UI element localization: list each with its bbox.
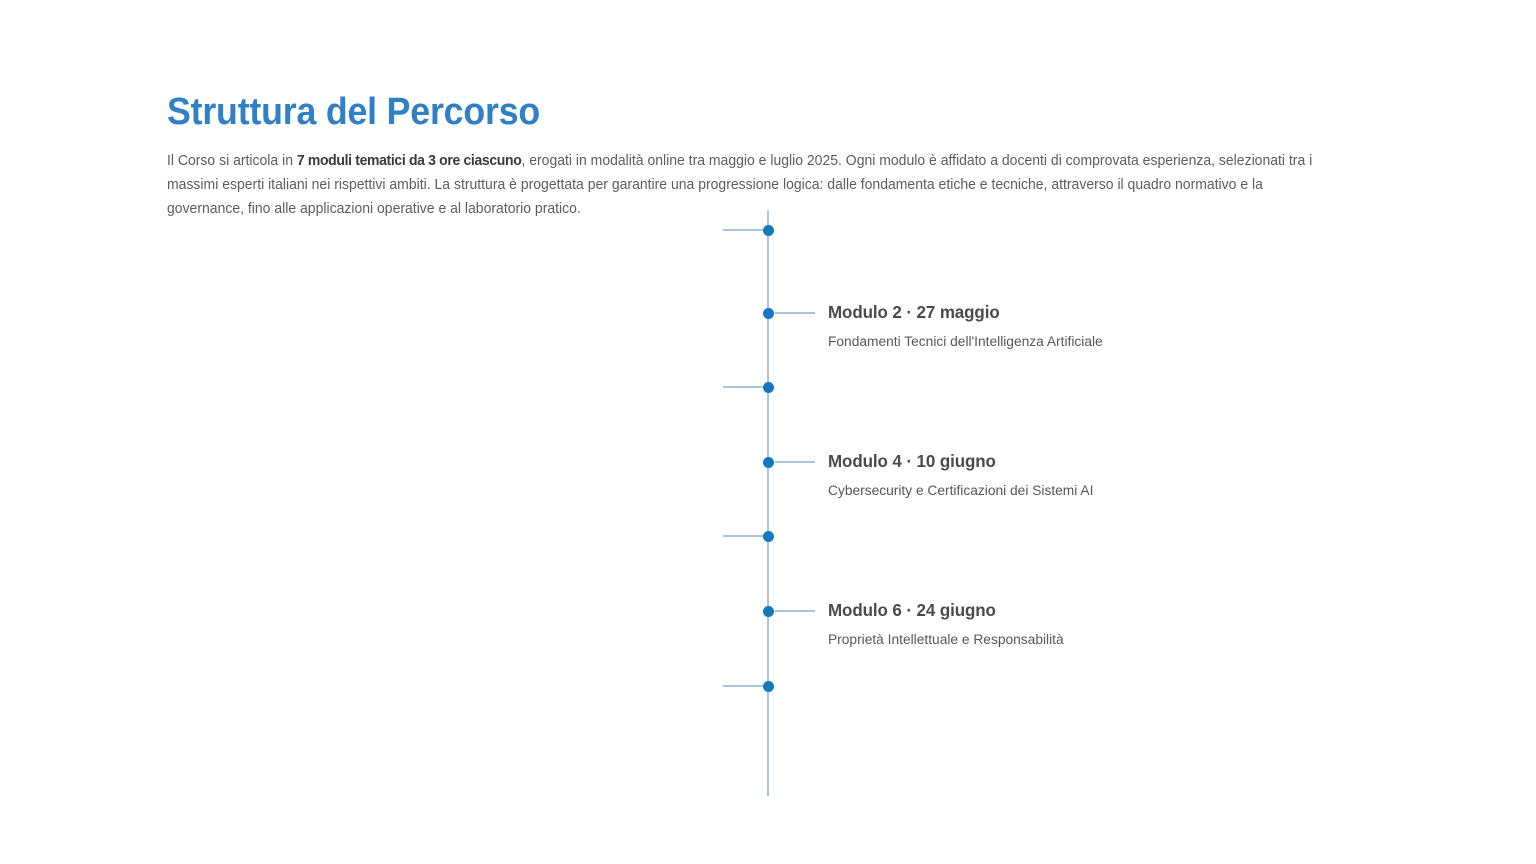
timeline-connector <box>723 229 763 231</box>
timeline-item-subtitle: Fondamenti Tecnici dell'Intelligenza Art… <box>828 333 1103 351</box>
timeline-item-text: Modulo 6 · 24 giugnoProprietà Intellettu… <box>828 600 1071 649</box>
timeline-connector <box>775 610 815 612</box>
timeline-dot-icon <box>763 531 774 542</box>
timeline-item-text: Modulo 4 · 10 giugnoCybersecurity e Cert… <box>828 451 1102 500</box>
slide-root: Struttura del Percorso Il Corso si artic… <box>0 0 1536 864</box>
timeline-connector <box>723 685 763 687</box>
timeline-dot-icon <box>763 457 774 468</box>
timeline-connector <box>775 461 815 463</box>
timeline-dot-icon <box>763 308 774 319</box>
timeline-connector <box>723 386 763 388</box>
timeline-item-title: Modulo 6 · 24 giugno <box>828 600 1064 620</box>
timeline-connector <box>723 535 763 537</box>
timeline-item-text: Modulo 2 · 27 maggioFondamenti Tecnici d… <box>828 302 1111 351</box>
timeline-dot-icon <box>763 225 774 236</box>
timeline-item-title: Modulo 2 · 27 maggio <box>828 302 1103 322</box>
timeline-item-title: Modulo 4 · 10 giugno <box>828 451 1093 471</box>
timeline-item-subtitle: Cybersecurity e Certificazioni dei Siste… <box>828 482 1093 500</box>
timeline-connector <box>775 312 815 314</box>
timeline: Modulo 1 · 20 maggioAI, Etica, Data Prot… <box>0 0 1536 864</box>
timeline-item-subtitle: Proprietà Intellettuale e Responsabilità <box>828 631 1064 649</box>
timeline-axis-line <box>767 210 769 796</box>
timeline-dot-icon <box>763 606 774 617</box>
timeline-dot-icon <box>763 681 774 692</box>
timeline-dot-icon <box>763 382 774 393</box>
